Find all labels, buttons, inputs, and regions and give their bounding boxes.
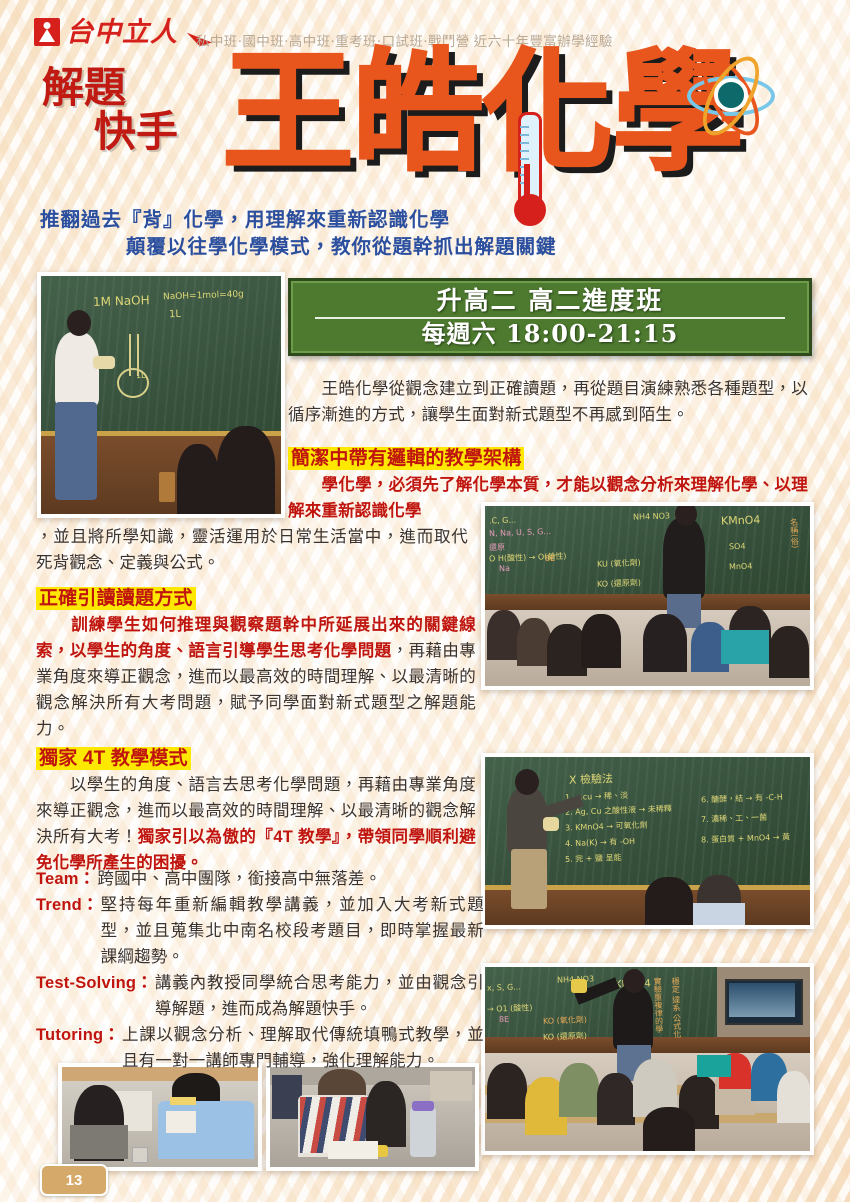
poster-page: 台中立人 私中班‧國中班‧高中班‧重考班‧口試班‧戰鬥營 近六十年豐富辦學經驗 … — [0, 0, 850, 1202]
atom-icon — [684, 50, 770, 136]
intro-paragraph: 王皓化學從觀念建立到正確讀題，再從題目演練熟悉各種題型，以循序漸進的方式，讓學生… — [288, 376, 808, 428]
section3-heading: 獨家 4T 教學模式 — [36, 747, 191, 770]
page-number-badge: 13 — [40, 1164, 108, 1196]
photo-classroom-wide-tv: x, S, G... → O1 (酸性) 8E KO (氧化劑) KO (還原劑… — [481, 963, 814, 1155]
slogan: 推翻過去『背』化學，用理解來重新認識化學 顛覆以往學化學模式，教你從題幹抓出解題… — [40, 206, 830, 260]
section1-heading-text: 簡潔中帶有邏輯的教學架構 — [288, 447, 524, 470]
section1-paragraph-top: 學化學，必須先了解化學本質，才能以觀念分析來理解化學、以理解來重新認識化學 — [288, 472, 808, 524]
title-left-line2: 快手 — [94, 110, 222, 154]
title-left-line1: 解題 — [42, 63, 126, 112]
list-item: Team： 跨國中、高中團隊，銜接高中無落差。 — [36, 866, 484, 892]
photo-teacher-naoh-board: 1M NaOH NaOH=1mol=40g 1L 1L — [37, 272, 285, 518]
photo-teacher-pointing-board: X 檢驗法 1. ...cu → 稀、淡 2. Ag, Cu 之酸性液 → 未稀… — [481, 753, 814, 929]
t-item-key: Tutoring： — [36, 1022, 120, 1074]
photo-classroom-lecture-kmno4: .C, G... N, Na, U, S, G... 還原 O H(酸性) → … — [481, 502, 814, 690]
section3: 獨家 4T 教學模式 以學生的角度、語言去思考化學問題，再藉由專業角度來導正觀念… — [36, 746, 476, 876]
t-item-value: 跨國中、高中團隊，銜接高中無落差。 — [97, 866, 484, 892]
section1-bold: 學化學，必須先了解化學本質，才能以觀念分析來理解化學、以理解來重新認識化學 — [288, 476, 808, 520]
t-item-key: Team： — [36, 866, 95, 892]
t-item-key: Trend： — [36, 892, 99, 970]
schedule-box: 升高二 高二進度班 每週六 18:00-21:15 — [288, 278, 812, 356]
person-in-square-icon — [34, 18, 60, 46]
photo-students-experiment-2 — [266, 1063, 479, 1171]
slogan-line-2: 顛覆以往學化學模式，教你從題幹抓出解題關鍵 — [126, 233, 830, 260]
title-main: 王皓化學 — [222, 42, 842, 192]
schedule-class-name: 升高二 高二進度班 — [437, 287, 664, 315]
section1-paragraph-rest: ，並且將所學知識，靈活運用於日常生活當中，進而取代死背觀念、定義與公式。 — [36, 524, 468, 576]
list-item: Trend： 堅持每年重新編輯教學講義，並加入大考新式題型，並且蒐集北中南名校段… — [36, 892, 484, 970]
masthead: 台中立人 私中班‧國中班‧高中班‧重考班‧口試班‧戰鬥營 近六十年豐富辦學經驗 … — [0, 0, 850, 200]
list-item: Test-Solving： 講義內教授同學統合思考能力，並由觀念引導解題，進而成… — [36, 970, 484, 1022]
photo-students-experiment-1 — [58, 1063, 262, 1171]
t-item-value: 上課以觀念分析、理解取代傳統填鴨式教學，並且有一對一講師專門輔導，強化理解能力。 — [122, 1022, 484, 1074]
section2: 正確引讀讀題方式 訓練學生如何推理與觀察題幹中所延展出來的關鍵線索，以學生的角度… — [36, 586, 476, 742]
slogan-line-1: 推翻過去『背』化學，用理解來重新認識化學 — [40, 208, 450, 231]
section2-heading: 正確引讀讀題方式 — [36, 587, 196, 610]
title-left: 解題 快手 — [42, 66, 222, 153]
t-item-value: 堅持每年重新編輯教學講義，並加入大考新式題型，並且蒐集北中南名校段考題目，即時掌… — [101, 892, 484, 970]
t-items-list: Team： 跨國中、高中團隊，銜接高中無落差。 Trend： 堅持每年重新編輯教… — [36, 866, 484, 1074]
brand-name: 台中立人 — [66, 19, 178, 46]
list-item: Tutoring： 上課以觀念分析、理解取代傳統填鴨式教學，並且有一對一講師專門… — [36, 1022, 484, 1074]
schedule-time: 每週六 18:00-21:15 — [422, 321, 679, 347]
brand-lockup: 台中立人 — [34, 18, 178, 46]
t-item-key: Test-Solving： — [36, 970, 153, 1022]
section1-heading: 簡潔中帶有邏輯的教學架構 — [288, 446, 808, 472]
t-item-value: 講義內教授同學統合思考能力，並由觀念引導解題，進而成為解題快手。 — [155, 970, 484, 1022]
